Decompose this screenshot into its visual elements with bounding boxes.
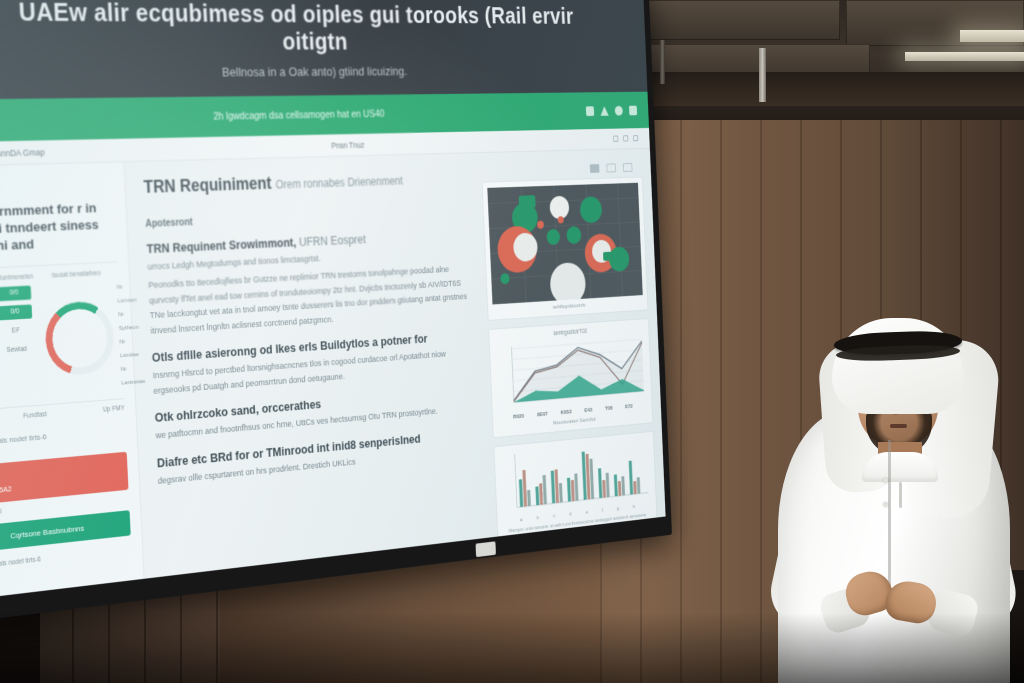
trend-line-area-chart[interactable] xyxy=(494,332,647,414)
right-toolbar xyxy=(481,159,643,176)
grid-icon[interactable] xyxy=(615,105,623,115)
bookmark-icon[interactable] xyxy=(613,136,618,142)
page-title-sub: Orem ronnabes Drienenment xyxy=(275,174,403,191)
layout-icon[interactable] xyxy=(606,163,616,172)
xtick: K0S2 xyxy=(561,410,572,416)
sidebar-heading: for Governmment for r in Goporrni tnndee… xyxy=(0,200,117,257)
export-icon[interactable] xyxy=(623,163,633,172)
subbar-icon-group xyxy=(613,135,638,142)
xtick: 8E07 xyxy=(537,412,548,418)
screen-surface: UAEw alir ecqubimess od oiples gui toroo… xyxy=(0,0,666,602)
screenshot-stage: UAEw alir ecqubimess od oiples gui toroo… xyxy=(0,0,1024,683)
xtick: a xyxy=(520,518,523,524)
section-heading-1-rest: UFRN Eospret xyxy=(299,233,366,249)
ceiling-light xyxy=(960,30,1024,42)
table-row[interactable]: Pavat 0/0 xyxy=(0,285,38,304)
kandura-placket xyxy=(888,440,891,590)
hero-subtitle: Bellnosa in a Oak anto) gtiind licuizing… xyxy=(222,64,408,79)
hero-title: UAEw alir ecqubimess od oiples gui toroo… xyxy=(0,0,603,57)
more-icon[interactable] xyxy=(633,135,638,141)
zoom-in-icon[interactable] xyxy=(648,530,653,537)
bubble-node xyxy=(549,262,586,304)
footer-item: Up FMY xyxy=(103,405,125,414)
table-row[interactable]: Lessot EF xyxy=(0,323,40,343)
xtick: T08 xyxy=(605,406,613,412)
line-chart-card: lamtrgssllctrT02 xyxy=(488,318,653,438)
bubble-chart-card: sehlfsgnldourtzlv xyxy=(482,177,649,321)
page-icon[interactable] xyxy=(629,105,637,115)
footer-item: Fundfast xyxy=(23,412,47,421)
xtick: e xyxy=(586,510,588,515)
screen-mount-rod xyxy=(759,48,766,102)
table-col-header-3: Isusat benatiafveo xyxy=(52,270,101,279)
floor-shadow xyxy=(0,613,1024,683)
zoom-out-icon[interactable] xyxy=(637,531,642,538)
status-badge: 0/0 xyxy=(0,285,31,301)
xtick: h xyxy=(633,505,635,510)
bubble-network-chart[interactable] xyxy=(487,183,642,305)
xtick: E72 xyxy=(625,404,633,410)
xtick: E43 xyxy=(584,408,592,414)
bubble-label-chip xyxy=(519,196,536,209)
paragraph: Peonodks tto 8ecedlojfiess br Gutzze ne … xyxy=(148,262,469,339)
ceiling-tile xyxy=(640,0,840,40)
xtick: R020 xyxy=(513,414,524,420)
share-icon[interactable] xyxy=(623,135,628,141)
sidebar-table: Munsnee Muntmonelsn Isusat benatiafveo P… xyxy=(0,261,125,426)
donut-gauge-chart xyxy=(44,300,116,377)
slide-right-column: sehlfsgnldourtzlv lamtrgssllctrT02 xyxy=(477,149,665,537)
chest-pen xyxy=(899,482,902,508)
slide-sidebar: norteer nhotalc Went for Governmment for… xyxy=(0,162,145,601)
presenter-collar xyxy=(862,452,938,482)
screen-mount-bracket xyxy=(660,40,665,84)
slide-hero-banner: UAEw alir ecqubimess od oiples gui toroo… xyxy=(0,0,647,100)
line-chart-svg xyxy=(494,332,647,414)
sidebar-footnote: Bads naf 'Dhals nodet tirts-6 xyxy=(0,545,132,575)
chart-icon[interactable] xyxy=(586,106,594,116)
status-badge: EF xyxy=(0,323,33,339)
xtick: f xyxy=(602,508,603,513)
presenter-mouth xyxy=(890,424,907,428)
sidebar-table-footer: MT Fundfast Up FMY xyxy=(0,398,125,425)
media-icon[interactable] xyxy=(590,164,600,173)
table-row[interactable]: Labour 0/0 xyxy=(0,304,39,323)
filter-icon[interactable] xyxy=(600,106,608,116)
bubble-label-chip xyxy=(603,251,619,261)
kandura-button xyxy=(883,478,888,483)
bubble-node xyxy=(566,226,581,244)
status-badge: 0/0 xyxy=(0,304,32,320)
slide-body: norteer nhotalc Went for Governmment for… xyxy=(0,149,666,602)
main-eyebrow: Apotesront xyxy=(145,207,465,230)
xtick: g xyxy=(617,506,619,511)
screen-frame: UAEw alir ecqubimess od oiples gui toroo… xyxy=(0,0,672,625)
breadcrumb-label: Dsartat. CnannDA Gmap xyxy=(0,147,45,159)
status-badge: Sewlad xyxy=(0,342,34,358)
slide-main-column: TRN Requiniment Orem ronnabes Drienenmen… xyxy=(124,153,494,579)
xtick: c xyxy=(553,514,555,520)
breadcrumb[interactable]: Dsartat. CnannDA Gmap xyxy=(0,147,45,159)
subbar-right-label: Pnsn Tnuz xyxy=(331,140,364,150)
donut-legend-item: Nr Lsrnsen xyxy=(117,279,142,308)
donut-legend-item: Nr Lsmtise xyxy=(119,334,144,363)
bubble-node xyxy=(537,221,544,229)
table-row[interactable]: Labours Sewlad xyxy=(0,342,41,362)
page-title-main: TRN Requiniment xyxy=(143,174,272,197)
projection-screen: UAEw alir ecqubimess od oiples gui toroo… xyxy=(0,0,672,625)
donut-legend-item: Nr Lantnetas xyxy=(121,362,146,391)
donut-legend-item: Nr Sytheon xyxy=(118,307,143,336)
alert-section-label: Bads naf 'Dhals nodet tirts-6 xyxy=(0,426,126,449)
navbar-mid-label: 2h lgwdcagm dsa cellsamogen hat en US40 xyxy=(213,108,384,122)
table-col-header-2: Muntmonelsn xyxy=(0,272,45,281)
ceiling-light xyxy=(905,52,1024,61)
kandura-button xyxy=(883,502,888,507)
page-title: TRN Requiniment Orem ronnabes Drienenmen… xyxy=(143,168,463,198)
xtick: b xyxy=(537,516,540,522)
navbar-icon-group xyxy=(586,105,637,115)
subbar-right-label-wrap: Pnsn Tnuz xyxy=(331,140,364,150)
xtick: d xyxy=(569,512,571,518)
